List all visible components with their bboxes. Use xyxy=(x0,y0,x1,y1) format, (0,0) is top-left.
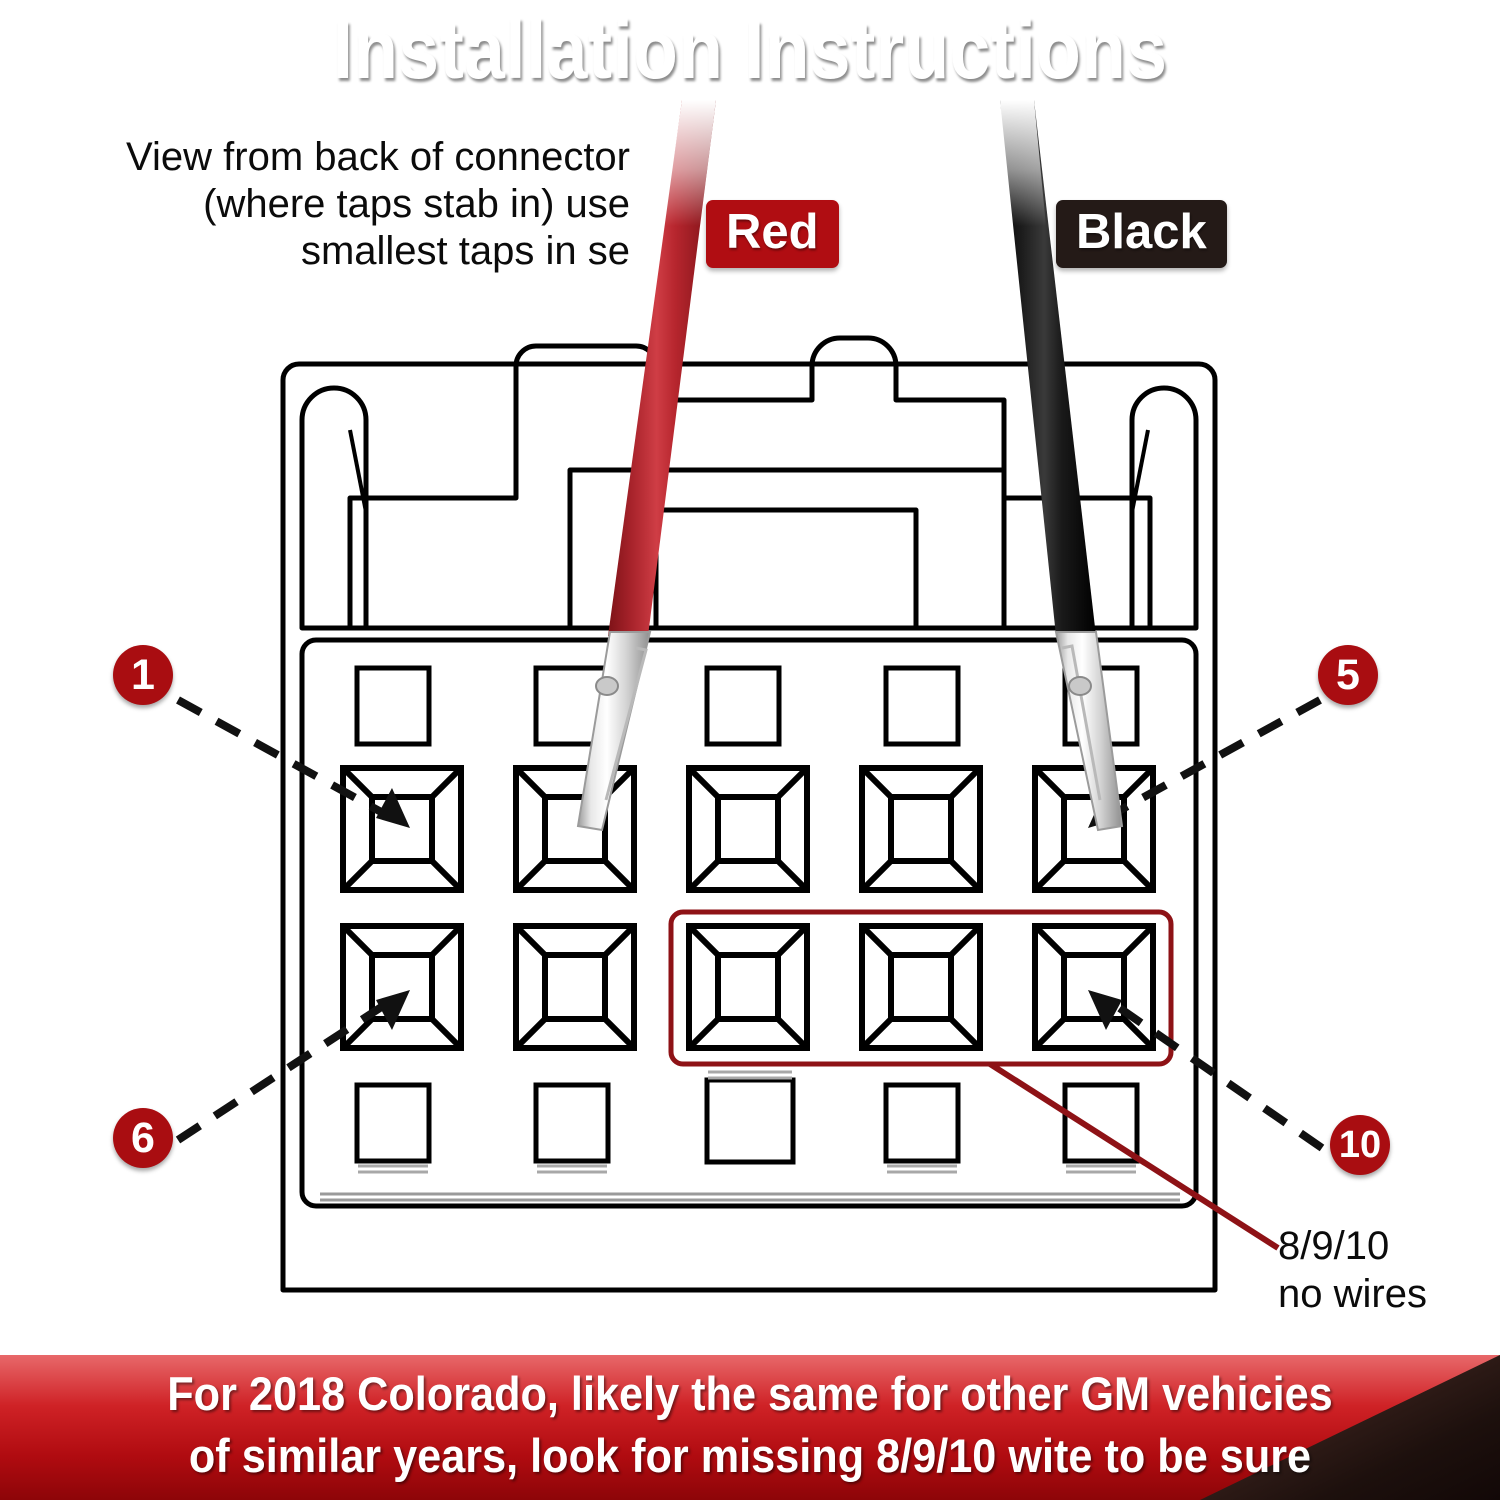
housing-centre-keyway xyxy=(656,510,916,628)
face-plate-shadow xyxy=(320,1194,1180,1200)
no-wires-line-2: no wires xyxy=(1278,1270,1427,1318)
pin-row-upper xyxy=(343,768,1153,890)
blank-bottom-2 xyxy=(536,1085,608,1161)
arrowhead-pin-10 xyxy=(1088,990,1122,1030)
marker-pin-6: 6 xyxy=(113,1108,173,1168)
housing-left-tab xyxy=(302,388,366,628)
marker-pin-5: 5 xyxy=(1318,645,1378,705)
marker-pin-10: 10 xyxy=(1330,1115,1390,1175)
blank-top-3 xyxy=(707,668,779,744)
blank-row-bottom xyxy=(357,1080,1137,1162)
pin-2 xyxy=(516,768,634,890)
footer-note-line-2: of similar years, look for missing 8/9/1… xyxy=(60,1425,1440,1487)
blank-bottom-1 xyxy=(357,1085,429,1161)
pin-7 xyxy=(516,926,634,1048)
footer-banner: For 2018 Colorado, likely the same for o… xyxy=(0,1355,1500,1500)
red-wire xyxy=(578,100,716,830)
blank-row-top xyxy=(357,668,1137,744)
pin-10 xyxy=(1035,926,1153,1048)
no-wires-annotation: 8/9/10 no wires xyxy=(1278,1222,1427,1318)
pin-3 xyxy=(689,768,807,890)
red-terminal-crimp-dimple xyxy=(596,677,618,695)
red-terminal-blade xyxy=(578,632,650,830)
pin-8 xyxy=(689,926,807,1048)
black-terminal-crimp-dimple xyxy=(1069,677,1091,695)
pin-row-lower xyxy=(343,926,1153,1048)
blank-top-4 xyxy=(886,668,958,744)
pin-1 xyxy=(343,768,461,890)
housing-right-tab xyxy=(1132,388,1196,628)
pin-6 xyxy=(343,926,461,1048)
pin-9 xyxy=(862,926,980,1048)
blank-row-bottom-shadows xyxy=(358,1072,1136,1172)
marker-pin-1: 1 xyxy=(113,645,173,705)
black-wire-top-fade xyxy=(1000,100,1046,226)
no-wires-line-1: 8/9/10 xyxy=(1278,1222,1427,1270)
black-wire-label: Black xyxy=(1056,200,1227,268)
blank-bottom-3 xyxy=(707,1080,793,1162)
no-wires-highlight-box xyxy=(671,912,1171,1064)
red-wire-label: Red xyxy=(706,200,839,268)
callout-arrowheads xyxy=(376,788,1122,1030)
footer-note-line-1: For 2018 Colorado, likely the same for o… xyxy=(60,1363,1440,1425)
instruction-sheet: Installation Instructions View from back… xyxy=(0,0,1500,1500)
blank-bottom-4 xyxy=(886,1085,958,1161)
pin-4 xyxy=(862,768,980,890)
footer-note: For 2018 Colorado, likely the same for o… xyxy=(60,1363,1440,1487)
blank-top-1 xyxy=(357,668,429,744)
